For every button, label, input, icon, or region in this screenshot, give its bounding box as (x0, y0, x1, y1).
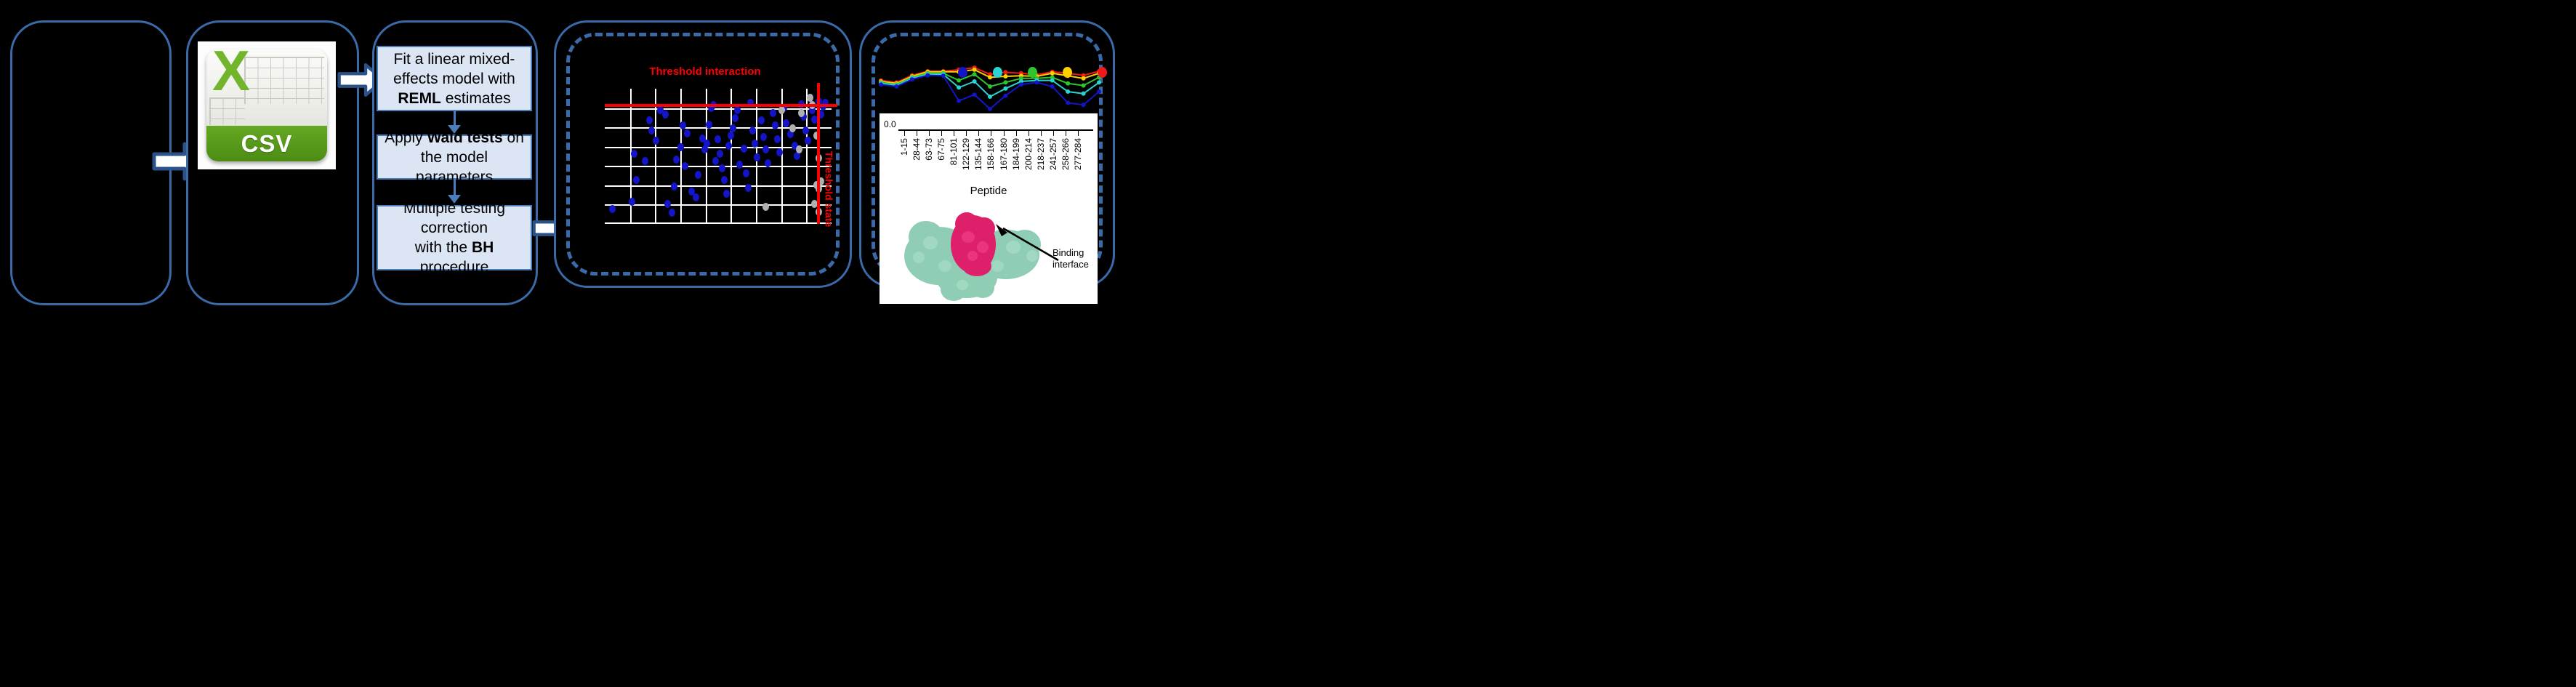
gridline-horizontal (605, 166, 832, 167)
connector-line-2 (454, 180, 456, 196)
peptide-tick-label: 81-101 (949, 138, 959, 165)
peptide-tick-label: 258-266 (1060, 138, 1071, 170)
threshold-state-line (817, 83, 820, 224)
scatter-point (760, 133, 767, 141)
csv-format-band: CSV (206, 126, 327, 161)
peptide-axis-tick (904, 131, 905, 136)
peptide-series-marker (1097, 89, 1101, 94)
scatter-point (671, 182, 677, 190)
scatter-point (648, 126, 655, 134)
scatter-point (717, 150, 723, 158)
scatter-point (796, 145, 802, 153)
scatter-point (669, 209, 675, 217)
scatter-point (673, 156, 680, 164)
peptide-tick-label: 63-73 (924, 138, 934, 161)
peptide-series-marker (1066, 89, 1070, 94)
scatter-point (662, 111, 669, 118)
peptide-chart-svg (869, 57, 1109, 115)
peptide-x-axis-label: Peptide (880, 185, 1098, 197)
peptide-tick-label: 158-166 (986, 138, 996, 170)
scatter-point (664, 200, 671, 208)
peptide-tick-label: 67-75 (936, 138, 946, 161)
binding-interface-arrow-icon (989, 222, 1061, 266)
scatter-point (629, 198, 635, 206)
peptide-axis-tick (1016, 131, 1017, 136)
scatter-point (730, 124, 736, 132)
scatter-point (741, 145, 747, 153)
scatter-point (728, 132, 734, 140)
peptide-axis-tick (1004, 131, 1005, 136)
legend-dot (1028, 67, 1037, 78)
peptide-axis-tick (941, 131, 942, 136)
csv-grid-large (244, 57, 324, 104)
scatter-point (712, 157, 719, 165)
binding-label-line2: interface (1052, 259, 1089, 270)
peptide-tick-label: 277-284 (1073, 138, 1083, 170)
peptide-tick-label: 1-15 (899, 138, 909, 156)
peptide-series-marker (894, 84, 898, 89)
peptide-axis-tick (929, 131, 930, 136)
gridline-horizontal (605, 185, 832, 187)
scatter-point (677, 143, 684, 151)
step-box-reml-text: Fit a linear mixed-effects model with RE… (393, 49, 515, 108)
gridline-horizontal (605, 204, 832, 206)
scatter-plot-area (605, 89, 832, 224)
scatter-point (609, 205, 616, 213)
peptide-axis-tick (917, 131, 917, 136)
legend-dot (958, 67, 967, 78)
legend-dot (1063, 67, 1072, 78)
scatter-point (762, 145, 769, 153)
csv-format-label: CSV (241, 130, 293, 158)
csv-file-card: X CSV (198, 41, 336, 169)
peptide-series-marker (957, 99, 961, 103)
scatter-point (802, 126, 809, 134)
bh-line2: correction (421, 220, 488, 236)
stage-panel-input (10, 20, 172, 305)
excel-x-icon: X (211, 49, 251, 96)
scatter-point (734, 106, 741, 114)
scatter-point (749, 126, 756, 134)
connector-line-1 (454, 111, 456, 126)
scatter-point (745, 184, 752, 192)
scatter-point (721, 176, 728, 184)
peptide-tick-label: 200-214 (1023, 138, 1034, 170)
reml-line2: effects model with (393, 71, 515, 87)
scatter-point (695, 171, 701, 179)
peptide-chart-legend (869, 67, 1109, 83)
binding-label-line1: Binding (1052, 247, 1089, 259)
scatter-point (758, 116, 765, 124)
peptide-tick-label: 122-129 (961, 138, 971, 170)
csv-file-icon: X CSV (206, 49, 327, 161)
binding-interface-label: Binding interface (1052, 247, 1089, 270)
scatter-point (774, 135, 781, 143)
peptide-y-tick: 0.0 (884, 119, 896, 129)
scatter-point (642, 157, 648, 165)
scatter-point (776, 148, 783, 156)
peptide-tick-label: 218-237 (1036, 138, 1046, 170)
scatter-point (680, 121, 686, 129)
threshold-interaction-line (605, 104, 837, 107)
wald-line1b: on (503, 129, 524, 146)
peptide-axis-tick (1029, 131, 1029, 136)
bh-line1: Multiple testing (403, 200, 505, 217)
csv-spreadsheet-area: X (206, 49, 327, 126)
peptide-series-marker (1003, 94, 1007, 98)
step-box-bh: Multiple testingcorrectionwith the BH pr… (377, 205, 532, 270)
scatter-point (684, 129, 691, 137)
peptide-axis-tick (1078, 131, 1079, 136)
scatter-point (798, 109, 805, 117)
step-box-wald: Apply Wald tests onthe model parameters (377, 134, 532, 180)
bh-line3b: procedure (420, 259, 489, 276)
scatter-point (736, 161, 743, 169)
scatter-point (805, 137, 811, 145)
peptide-series-marker (1019, 82, 1023, 87)
peptide-series-marker (1082, 103, 1086, 107)
peptide-axis-tick (1066, 131, 1066, 136)
peptide-series-marker (988, 107, 992, 111)
peptide-axis-tick (978, 131, 979, 136)
peptide-tick-label: 135-144 (973, 138, 983, 170)
gridline-horizontal (605, 108, 832, 110)
scatter-point (752, 140, 758, 148)
scatter-point (653, 137, 659, 145)
peptide-structure-card: 0.0 Peptide (880, 113, 1098, 304)
step-box-reml: Fit a linear mixed-effects model with RE… (377, 46, 532, 111)
peptide-line-chart (869, 57, 1109, 115)
peptide-series-marker (973, 92, 977, 97)
scatter-point (754, 153, 760, 161)
step-box-wald-text: Apply Wald tests onthe model parameters (382, 128, 526, 187)
step-box-bh-text: Multiple testingcorrectionwith the BH pr… (382, 198, 526, 277)
bh-line3: with the (415, 239, 472, 256)
scatter-point (783, 119, 789, 127)
reml-line3: estimates (441, 90, 511, 107)
scatter-point (743, 169, 749, 177)
scatter-point (789, 124, 796, 132)
peptide-series-marker (988, 95, 992, 99)
peptide-series-marker (879, 82, 883, 87)
peptide-series-marker (988, 84, 992, 89)
peptide-series-marker (1050, 84, 1055, 89)
bh-bold: BH (472, 239, 494, 256)
reml-line1: Fit a linear mixed- (394, 51, 515, 68)
scatter-point (631, 150, 637, 158)
peptide-axis-tick (1053, 131, 1054, 136)
scatter-chart: Threshold interaction Threshold state (574, 65, 836, 247)
peptide-axis-tick (954, 131, 954, 136)
scatter-point (778, 106, 785, 114)
scatter-point (723, 190, 730, 198)
peptide-tick-label: 184-199 (1011, 138, 1021, 170)
scatter-point (732, 114, 738, 122)
gridline-horizontal (605, 127, 832, 129)
wald-line1: Apply (385, 129, 427, 146)
peptide-series-marker (1082, 92, 1086, 96)
axis-bottom (605, 222, 832, 224)
peptide-axis-tick (1041, 131, 1042, 136)
scatter-point (646, 116, 653, 124)
peptide-series-marker (1066, 100, 1070, 105)
peptide-axis-tick (966, 131, 967, 136)
reml-bold: REML (398, 90, 441, 107)
peptide-tick-label: 241-257 (1048, 138, 1058, 170)
scatter-title: Threshold interaction (574, 65, 836, 78)
peptide-series-marker (1082, 84, 1086, 88)
scatter-point (772, 121, 778, 129)
peptide-series-marker (957, 85, 961, 89)
peptide-tick-label: 28-44 (911, 138, 922, 161)
legend-dot (1098, 67, 1107, 78)
scatter-point (706, 121, 712, 129)
scatter-point (633, 176, 640, 184)
scatter-point (704, 140, 710, 148)
peptide-series-marker (1003, 87, 1007, 91)
wald-bold: Wald tests (427, 129, 502, 146)
scatter-point (770, 109, 776, 117)
scatter-point (719, 164, 725, 172)
scatter-point (682, 162, 688, 170)
legend-dot (993, 67, 1002, 78)
threshold-state-label: Threshold state (823, 151, 834, 227)
peptide-axis-tick (991, 131, 991, 136)
peptide-tick-label: 167-180 (999, 138, 1009, 170)
peptide-x-axis (898, 129, 1093, 131)
scatter-point (693, 193, 699, 201)
scatter-point (807, 94, 813, 102)
scatter-point (715, 135, 721, 143)
scatter-point (762, 203, 769, 211)
